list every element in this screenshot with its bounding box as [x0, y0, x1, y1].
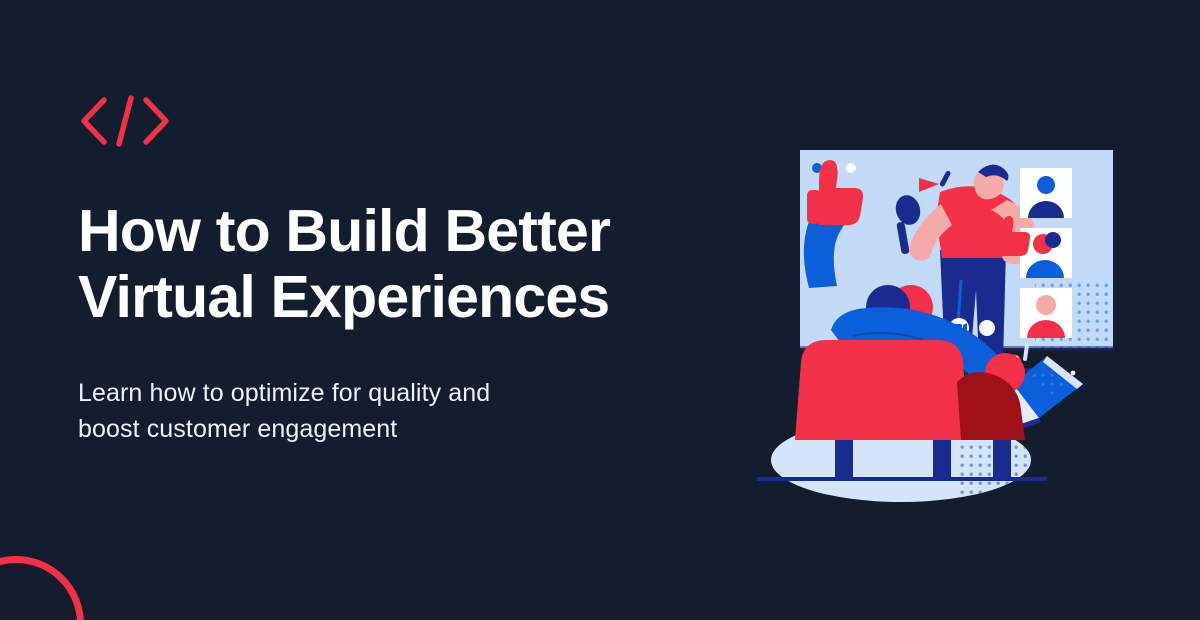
control-button-right[interactable] — [979, 320, 995, 336]
avatar-tile-3[interactable] — [1020, 288, 1072, 338]
code-brackets-icon — [78, 92, 174, 150]
window-dot[interactable] — [846, 163, 856, 173]
subheadline-line-2: boost customer engagement — [78, 412, 718, 448]
participant-tiles — [1020, 168, 1072, 338]
avatar-tile-1[interactable] — [1020, 168, 1072, 218]
headline-line-2: Virtual Experiences — [78, 264, 718, 330]
text-column: How to Build Better Virtual Experiences … — [78, 92, 718, 447]
banner-root: How to Build Better Virtual Experiences … — [0, 0, 1200, 620]
subheadline-line-1: Learn how to optimize for quality and — [78, 376, 718, 412]
headline-line-1: How to Build Better — [78, 198, 718, 264]
page-subtitle: Learn how to optimize for quality and bo… — [78, 330, 718, 447]
illustration-canvas — [735, 130, 1155, 510]
decorative-circle — [0, 556, 84, 620]
virtual-event-illustration — [735, 130, 1155, 510]
page-title: How to Build Better Virtual Experiences — [78, 198, 718, 330]
